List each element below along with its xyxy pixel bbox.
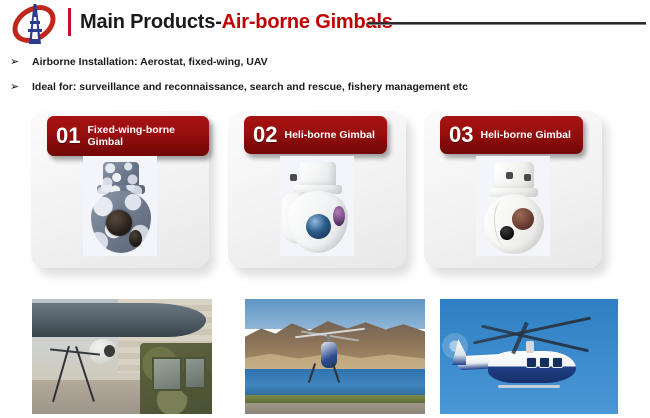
gimbal-knob-icon — [290, 174, 297, 181]
cabin-window — [539, 357, 550, 368]
gimbal-mount — [300, 162, 336, 187]
product-banner-01: 01 Fixed-wing-borne Gimbal — [47, 116, 209, 156]
unmanned-helicopter-over-lake-photo — [245, 299, 425, 414]
logo-bar-lower-icon — [28, 29, 42, 32]
gimbal-main-lens — [106, 210, 132, 236]
title-rule — [368, 22, 646, 25]
runway — [245, 403, 425, 414]
list-item: ➢ Ideal for: surveillance and reconnaiss… — [10, 77, 640, 99]
vehicle-window — [184, 357, 206, 389]
cabin-window — [552, 357, 563, 368]
product-banner-03: 03 Heli-borne Gimbal — [440, 116, 583, 154]
bullet-list: ➢ Airborne Installation: Aerostat, fixed… — [10, 52, 640, 102]
shoreline-grass — [245, 395, 425, 403]
product-banner-02: 02 Heli-borne Gimbal — [244, 116, 387, 154]
company-logo — [8, 3, 62, 45]
bullet-text: Ideal for: surveillance and reconnaissan… — [32, 77, 468, 97]
white-gimbal-icon — [276, 160, 358, 260]
product-image-02 — [228, 156, 406, 264]
product-card-03[interactable]: 03 Heli-borne Gimbal — [424, 110, 602, 268]
gimbal-secondary-lens — [129, 230, 142, 247]
helicopter-skid — [498, 385, 560, 388]
gimbal-knob-icon — [506, 172, 513, 179]
uav-gimbal-lens — [104, 345, 115, 357]
cabin-window — [526, 357, 537, 368]
product-image-03 — [424, 156, 602, 264]
photo-row — [0, 299, 650, 418]
uav-with-gimbal-photo — [32, 299, 212, 414]
gimbal-mount — [103, 162, 139, 187]
product-number: 03 — [449, 124, 473, 146]
gimbal-knob-icon — [524, 174, 531, 181]
list-item: ➢ Airborne Installation: Aerostat, fixed… — [10, 52, 640, 74]
product-card-row: 01 Fixed-wing-borne Gimbal 02 Heli-borne… — [0, 102, 650, 287]
logo-bar-upper-icon — [30, 21, 40, 24]
page-title-primary: Main Products- — [80, 11, 222, 33]
gimbal-secondary-lens — [500, 226, 514, 240]
vehicle-window — [152, 357, 182, 391]
product-image-01 — [31, 156, 209, 264]
gimbal-main-lens — [512, 208, 534, 230]
unmanned-helicopter-body — [321, 342, 337, 368]
uav-fuselage — [32, 303, 206, 337]
white-gimbal-brown-lens-icon — [472, 160, 554, 260]
camouflage-gimbal-icon — [79, 160, 161, 260]
blue-white-helicopter-in-flight-photo — [440, 299, 618, 414]
page-title: Main Products-Air-borne Gimbals — [80, 8, 393, 36]
product-number: 02 — [253, 124, 277, 146]
gimbal-secondary-lens — [333, 206, 345, 226]
title-separator-bar — [68, 8, 71, 36]
gimbal-main-lens — [306, 214, 331, 239]
product-caption: Fixed-wing-borne Gimbal — [87, 124, 197, 148]
slide-header: Main Products-Air-borne Gimbals — [0, 0, 650, 46]
product-caption: Heli-borne Gimbal — [284, 129, 374, 141]
tarmac — [32, 380, 140, 414]
arrow-bullet-icon: ➢ — [10, 52, 32, 72]
product-number: 01 — [56, 125, 80, 147]
product-card-01[interactable]: 01 Fixed-wing-borne Gimbal — [31, 110, 209, 268]
product-card-02[interactable]: 02 Heli-borne Gimbal — [228, 110, 406, 268]
arrow-bullet-icon: ➢ — [10, 77, 32, 97]
rotor-mast — [526, 341, 534, 353]
product-caption: Heli-borne Gimbal — [480, 129, 570, 141]
bullet-text: Airborne Installation: Aerostat, fixed-w… — [32, 52, 268, 72]
